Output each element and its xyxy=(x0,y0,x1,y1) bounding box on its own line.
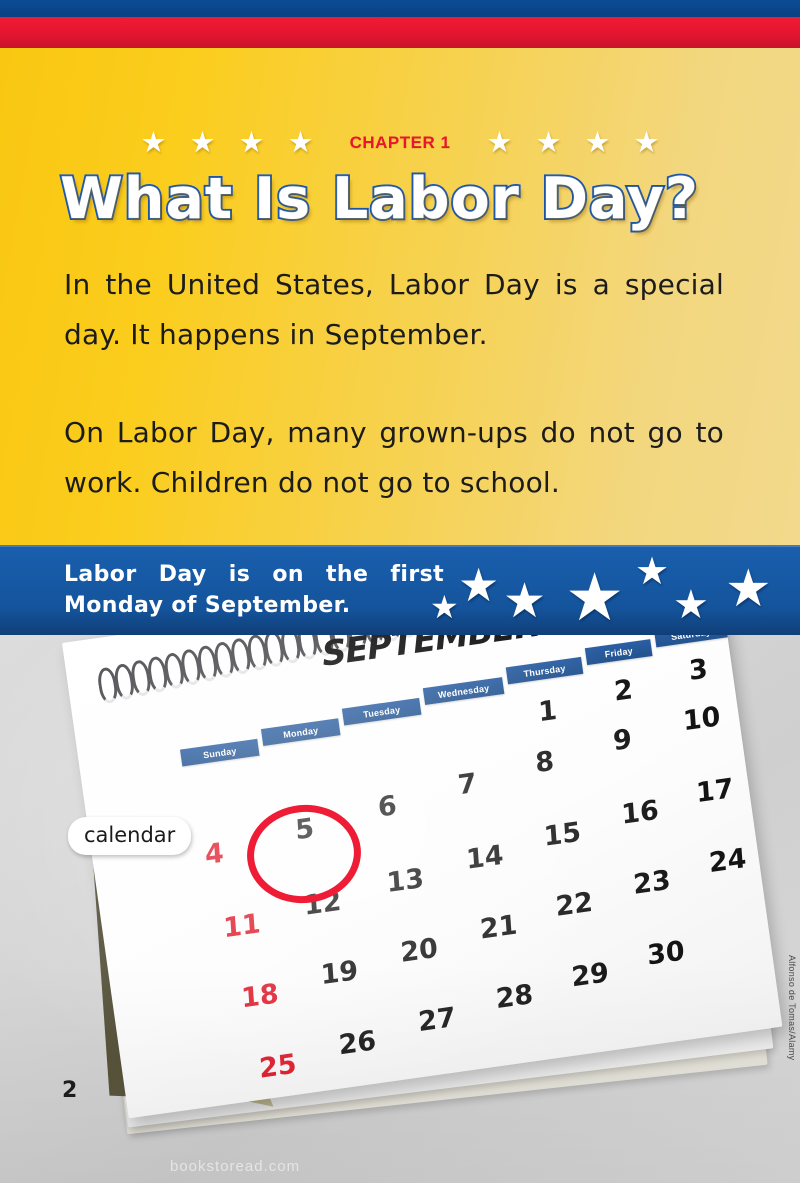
callout-label-calendar: calendar xyxy=(68,817,191,855)
star-icon: ★ xyxy=(573,129,622,158)
top-red-bar xyxy=(0,17,800,48)
caption-text: Labor Day is on the first Monday of Sept… xyxy=(64,559,444,621)
body-paragraph-1: In the United States, Labor Day is a spe… xyxy=(64,260,724,360)
star-icon: ★ xyxy=(458,562,499,608)
caption-bar: Labor Day is on the first Monday of Sept… xyxy=(0,545,800,635)
chapter-star-row: ★ ★ ★ ★ CHAPTER 1 ★ ★ ★ ★ xyxy=(0,123,800,163)
star-icon: ★ xyxy=(673,585,709,625)
star-icon: ★ xyxy=(178,129,227,158)
star-icon: ★ xyxy=(565,564,624,630)
star-icon: ★ xyxy=(622,129,671,158)
photo-shading xyxy=(0,635,800,1183)
star-icon: ★ xyxy=(475,129,524,158)
page-number: 2 xyxy=(62,1078,77,1103)
star-icon: ★ xyxy=(635,553,669,591)
calendar-photo: SEPTEMBER Sunday Monday Tuesday Wednesda… xyxy=(0,635,800,1183)
star-icon: ★ xyxy=(276,129,325,158)
watermark: bookstoread.com xyxy=(170,1158,300,1175)
book-page: ★ ★ ★ ★ CHAPTER 1 ★ ★ ★ ★ What Is Labor … xyxy=(0,0,800,1183)
star-icon: ★ xyxy=(524,129,573,158)
chapter-label: CHAPTER 1 xyxy=(325,133,475,153)
header-panel: ★ ★ ★ ★ CHAPTER 1 ★ ★ ★ ★ What Is Labor … xyxy=(0,48,800,545)
photo-credit: Alfonso de Tomas/Alamy xyxy=(787,955,797,1060)
body-paragraph-2: On Labor Day, many grown-ups do not go t… xyxy=(64,408,724,508)
star-icon: ★ xyxy=(227,129,276,158)
star-icon: ★ xyxy=(129,129,178,158)
star-icon: ★ xyxy=(430,591,459,623)
caption-star-cluster: ★ ★ ★ ★ ★ ★ ★ xyxy=(430,545,800,635)
star-icon: ★ xyxy=(503,578,546,626)
star-icon: ★ xyxy=(725,563,772,615)
page-title: What Is Labor Day? xyxy=(60,166,699,232)
top-blue-bar xyxy=(0,0,800,17)
